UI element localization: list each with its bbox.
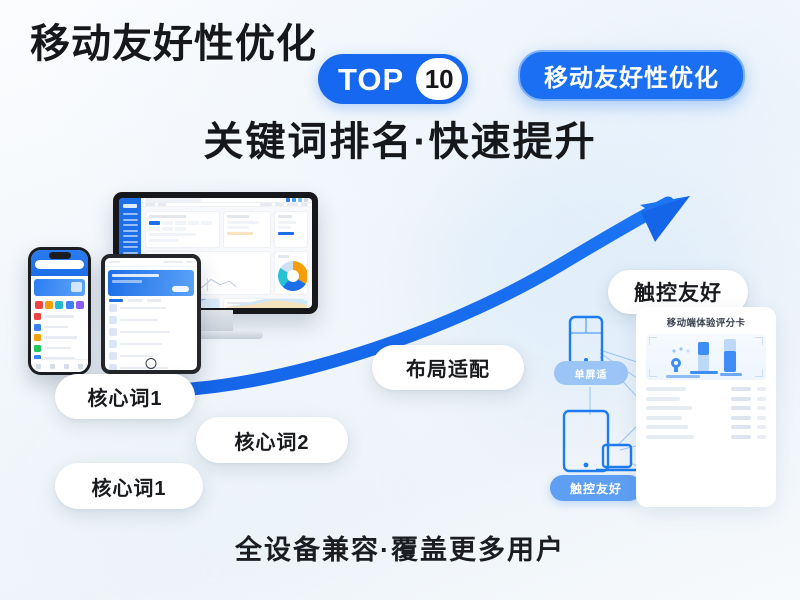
page-subtitle: 关键词排名·快速提升	[0, 122, 800, 162]
hero-highlight-pill: 移动友好性优化	[518, 50, 745, 101]
keyword-pill-2: 核心词2	[196, 417, 348, 463]
score-row	[646, 397, 766, 401]
poster-canvas: 移动友好性优化 TOP 10 移动友好性优化 关键词排名·快速提升 核心词1 核…	[0, 0, 800, 600]
score-card: 移动端体验评分卡	[636, 307, 776, 507]
top-rank-badge: TOP 10	[318, 54, 468, 104]
mobile-phone-icon	[28, 247, 91, 375]
layout-fit-pill: 布局适配	[372, 345, 524, 390]
score-row	[646, 387, 766, 391]
top-badge-number: 10	[416, 58, 462, 100]
score-card-title: 移动端体验评分卡	[646, 315, 766, 329]
page-title: 移动友好性优化	[30, 24, 317, 64]
score-card-illustration	[646, 334, 766, 380]
top-badge-word: TOP	[338, 64, 404, 95]
score-row	[646, 425, 766, 429]
bottom-caption: 全设备兼容·覆盖更多用户	[0, 528, 800, 567]
keyword-pill-3: 核心词1	[55, 463, 203, 509]
device-mockups	[28, 192, 348, 377]
touch-friendly-mini-pill: 触控友好	[550, 475, 642, 501]
score-row	[646, 435, 766, 439]
tablet-icon	[101, 254, 201, 374]
score-row	[646, 416, 766, 420]
score-row	[646, 406, 766, 410]
keyword-pill-1: 核心词1	[55, 374, 195, 419]
mini-diagram: 单屏适 触控友好 移动端体验评分卡	[548, 305, 778, 510]
single-screen-pill: 单屏适	[554, 361, 628, 385]
